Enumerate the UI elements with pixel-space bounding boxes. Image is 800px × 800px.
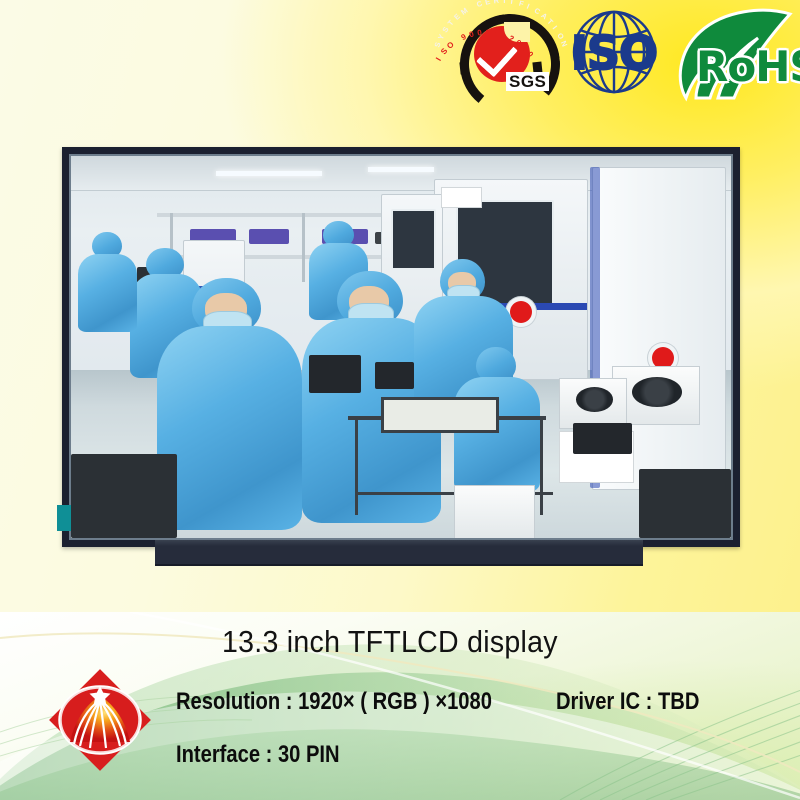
worker: [78, 232, 137, 331]
shelf-bin: [249, 229, 289, 244]
worker-suit: [78, 254, 137, 331]
ceiling-lamp: [216, 171, 322, 176]
machine-label: [441, 187, 483, 208]
worker-seated: [157, 278, 302, 530]
spec-row: Resolution : 1920× ( RGB ) ×1080 Driver …: [176, 688, 796, 741]
iso-globe-logo: ISO: [558, 4, 670, 104]
test-fixture: [309, 355, 362, 393]
sgs-iso9001-logo: SYSTEM CERTIFICATION ISO 9001: 2000 SGS: [448, 6, 556, 104]
spec-resolution: Resolution : 1920× ( RGB ) ×1080: [176, 688, 492, 716]
company-diamond-logo: [36, 656, 164, 784]
page-title: 13.3 inch TFTLCD display: [222, 624, 558, 660]
rack-cabinet: [639, 469, 731, 538]
bench-leg: [355, 416, 358, 515]
ceiling-lamp: [368, 167, 434, 172]
fan-icon: [576, 387, 613, 412]
test-fixture: [573, 423, 632, 454]
panel-screen: [71, 156, 731, 538]
spec-row: Interface : 30 PIN: [176, 741, 796, 794]
panel-bottom-extension: [155, 540, 643, 566]
rohs-label: RoHS: [696, 45, 800, 89]
test-fixture: [375, 362, 415, 389]
certification-logo-row: SYSTEM CERTIFICATION ISO 9001: 2000 SGS: [440, 0, 800, 112]
lcd-panel: [62, 147, 740, 547]
spec-interface: Interface : 30 PIN: [176, 741, 340, 769]
product-marketing-image: SYSTEM CERTIFICATION ISO 9001: 2000 SGS: [0, 0, 800, 800]
worker-suit: [454, 377, 540, 492]
cleanroom-factory-photo: [71, 156, 731, 538]
fan-icon: [632, 377, 682, 407]
sgs-label: SGS: [506, 72, 549, 91]
inspection-tray: [381, 397, 499, 434]
rohs-leaf-logo: RoHS: [672, 2, 798, 106]
emergency-stop-button: [510, 301, 532, 323]
spec-driver-ic: Driver IC : TBD: [556, 688, 699, 716]
equipment-case: [454, 485, 535, 538]
spec-list: Resolution : 1920× ( RGB ) ×1080 Driver …: [176, 688, 796, 794]
iso-label: ISO: [558, 30, 670, 76]
test-unit: [559, 378, 627, 430]
rack-cabinet: [71, 454, 177, 538]
bench-leg: [540, 416, 543, 515]
worker-suit: [157, 326, 302, 530]
